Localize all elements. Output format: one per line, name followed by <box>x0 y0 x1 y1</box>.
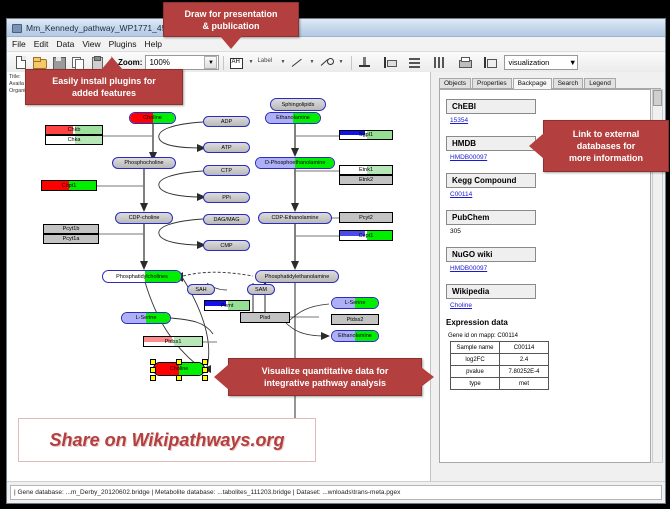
callout-tail-left <box>214 364 229 390</box>
visualization-value: visualization <box>508 58 549 67</box>
node-gene-etnk1[interactable]: Etnk1 <box>339 165 393 175</box>
table-cell: C00114 <box>500 342 549 354</box>
menu-item-help[interactable]: Help <box>145 39 162 49</box>
node-choline-top[interactable]: Choline <box>129 112 176 124</box>
node-label: Chka <box>68 137 81 143</box>
zoom-combobox[interactable]: 100% ▼ <box>145 55 219 70</box>
scrollbar-thumb[interactable] <box>653 90 662 106</box>
callout-share-text: Share on Wikipathways.org <box>50 430 285 451</box>
datanode-icon[interactable] <box>228 54 245 71</box>
node-o-phosphoethanolamine[interactable]: O-Phosphoethanolamine <box>255 157 335 169</box>
node-cmp[interactable]: CMP <box>203 240 250 251</box>
table-cell: pvalue <box>451 366 500 378</box>
node-cdp-ethanolamine[interactable]: CDP-Ethanolamine <box>258 212 332 224</box>
section-header-hmdb: HMDB <box>446 136 536 151</box>
node-label: ADP <box>221 119 232 125</box>
line-icon[interactable] <box>289 54 306 71</box>
node-label: SAM <box>255 287 267 293</box>
node-gene-pisd[interactable]: Pisd <box>240 312 290 323</box>
node-label: Ptdss2 <box>347 317 364 323</box>
node-gene-chkb[interactable]: Chkb <box>45 125 103 135</box>
node-label: Pcyt1a <box>63 236 80 242</box>
node-ppi[interactable]: PPi <box>203 192 250 203</box>
tab-legend[interactable]: Legend <box>584 78 616 88</box>
section-header-pubchem: PubChem <box>446 210 536 225</box>
label-icon[interactable] <box>257 54 277 71</box>
zoom-value: 100% <box>149 58 169 67</box>
callout-tail-up <box>101 57 123 70</box>
callout-visualize-line2: integrative pathway analysis <box>235 377 415 389</box>
node-label: Pcyt2 <box>359 215 373 221</box>
tab-backpage[interactable]: Backpage <box>513 78 552 89</box>
callout-draw-line2: & publication <box>170 20 292 32</box>
node-label: Chkb <box>68 127 81 133</box>
selection-handle[interactable] <box>176 359 182 365</box>
node-adp[interactable]: ADP <box>203 116 250 127</box>
node-label: L-Serine <box>345 300 366 306</box>
stack-icon[interactable] <box>406 54 423 71</box>
section-header-nugo: NuGO wiki <box>446 247 536 262</box>
node-ethanolamine-right[interactable]: Ethanolamine <box>331 330 379 342</box>
statusbar-text: | Gene database: ...m_Derby_20120602.bri… <box>10 485 662 500</box>
node-atp[interactable]: ATP <box>203 142 250 153</box>
table-cell: met <box>500 378 549 390</box>
callout-links-line3: more information <box>550 152 662 164</box>
statusbar: | Gene database: ...m_Derby_20120602.bri… <box>7 481 665 503</box>
node-gene-pemt[interactable]: Pemt <box>204 300 250 311</box>
node-gene-etnk2[interactable]: Etnk2 <box>339 175 393 185</box>
node-label: Sgpl1 <box>359 132 373 138</box>
connector-icon[interactable] <box>318 54 335 71</box>
node-label: Pcyt1b <box>63 226 80 232</box>
callout-plugins-line2: added features <box>32 87 176 99</box>
toolbar-separator <box>223 56 224 70</box>
callout-share: Share on Wikipathways.org <box>18 418 316 462</box>
node-sah[interactable]: SAH <box>187 284 215 295</box>
table-cell: Sample name <box>451 342 500 354</box>
screenshot-root: Mm_Kennedy_pathway_WP1771_45176.gpml Fil… <box>0 0 670 509</box>
selection-handle[interactable] <box>150 359 156 365</box>
chevron-down-icon[interactable]: ▼ <box>247 54 255 71</box>
node-gene-chpt1[interactable]: Chpt1 <box>41 180 97 191</box>
node-gene-ptdss1[interactable]: Ptdss1 <box>143 336 203 347</box>
distribute-icon[interactable] <box>431 54 448 71</box>
node-label: Ptdss1 <box>165 339 182 345</box>
tab-properties[interactable]: Properties <box>472 78 512 88</box>
node-phosphatidylcholines[interactable]: Phosphatidylcholines <box>102 270 182 283</box>
value-pubchem: 305 <box>450 228 650 235</box>
node-label: Pemt <box>221 303 234 309</box>
table-cell: type <box>451 378 500 390</box>
menu-item-file[interactable]: File <box>12 39 26 49</box>
node-label: Pisd <box>260 315 271 321</box>
chevron-down-icon[interactable]: ▼ <box>204 56 217 69</box>
callout-visualize: Visualize quantitative data for integrat… <box>228 358 422 396</box>
callout-plugins-line1: Easily install plugins for <box>32 75 176 87</box>
table-cell: 2.4 <box>500 354 549 366</box>
node-label: CDP-choline <box>129 215 160 221</box>
node-gene-sgpl1[interactable]: Sgpl1 <box>339 130 393 140</box>
menu-item-plugins[interactable]: Plugins <box>109 39 137 49</box>
node-gene-cept1[interactable]: Cept1 <box>339 230 393 241</box>
table-row: Sample name C00114 <box>451 342 549 354</box>
chevron-down-icon[interactable]: ▼ <box>279 54 287 71</box>
menu-item-data[interactable]: Data <box>56 39 74 49</box>
callout-links-line2: databases for <box>550 140 662 152</box>
tab-objects[interactable]: Objects <box>439 78 471 88</box>
node-label: SAH <box>195 287 206 293</box>
table-cell: log2FC <box>451 354 500 366</box>
table-row: pvalue 7.80252E-4 <box>451 366 549 378</box>
node-sam[interactable]: SAM <box>247 284 275 295</box>
link-nugo[interactable]: HMDB00097 <box>450 265 650 272</box>
gene-id-on-mapp: Gene id on mapp: C00114 <box>448 333 650 339</box>
side-panel-tabs: Objects Properties Backpage Search Legen… <box>439 76 661 89</box>
node-label: Ethanolamine <box>338 333 372 339</box>
callout-tail-down <box>220 36 242 49</box>
node-label: PPi <box>222 195 231 201</box>
align-left-icon[interactable] <box>381 54 398 71</box>
node-gene-pcyt1a[interactable]: Pcyt1a <box>43 234 99 244</box>
print-icon[interactable] <box>456 54 473 71</box>
callout-tail-right <box>421 367 434 387</box>
callout-links-line1: Link to external <box>550 128 662 140</box>
selection-handle[interactable] <box>150 375 156 381</box>
callout-draw-line1: Draw for presentation <box>170 8 292 20</box>
node-l-serine-left[interactable]: L-Serine <box>121 312 171 324</box>
callout-visualize-line1: Visualize quantitative data for <box>235 365 415 377</box>
menubar: File Edit Data View Plugins Help <box>7 37 665 52</box>
node-label: Cept1 <box>359 233 374 239</box>
visualization-combobox[interactable]: visualization ▼ <box>504 55 578 70</box>
selection-handle[interactable] <box>150 367 156 373</box>
node-label: ATP <box>221 145 231 151</box>
node-label: L-Serine <box>136 315 157 321</box>
section-header-chebi: ChEBI <box>446 99 536 114</box>
node-label: Ethanolamine <box>276 115 310 121</box>
node-label: CMP <box>220 243 232 249</box>
node-phosphatidylethanolamine[interactable]: Phosphatidylethanolamine <box>255 270 339 283</box>
node-label: CDP-Ethanolamine <box>271 215 318 221</box>
node-label: Phosphocholine <box>124 160 163 166</box>
node-label: Etnk2 <box>359 177 373 183</box>
section-header-wikipedia: Wikipedia <box>446 284 536 299</box>
node-gene-pcyt2[interactable]: Pcyt2 <box>339 212 393 223</box>
menu-item-edit[interactable]: Edit <box>34 39 49 49</box>
link-kegg[interactable]: C00114 <box>450 191 650 198</box>
section-header-kegg: Kegg Compound <box>446 173 536 188</box>
toolbar-separator <box>351 56 352 70</box>
node-label: DAG/MAG <box>214 217 240 223</box>
node-label: Chpt1 <box>62 183 77 189</box>
link-wikipedia[interactable]: Choline <box>450 302 650 309</box>
node-gene-chka[interactable]: Chka <box>45 135 103 145</box>
node-label: Phosphatidylethanolamine <box>265 274 330 280</box>
node-label: Choline <box>170 366 189 372</box>
node-label: O-Phosphoethanolamine <box>265 160 326 166</box>
node-gene-pcyt1b[interactable]: Pcyt1b <box>43 224 99 234</box>
chevron-down-icon[interactable]: ▼ <box>337 54 345 71</box>
node-label: Sphingolipids <box>282 102 315 108</box>
node-sphingolipids[interactable]: Sphingolipids <box>270 98 326 111</box>
node-gene-ptdss2[interactable]: Ptdss2 <box>331 314 379 325</box>
node-ethanolamine-top[interactable]: Ethanolamine <box>265 112 321 124</box>
node-dag-mag[interactable]: DAG/MAG <box>203 214 250 225</box>
table-row: log2FC 2.4 <box>451 354 549 366</box>
node-label: Choline <box>143 115 162 121</box>
chevron-down-icon[interactable]: ▼ <box>308 54 316 71</box>
callout-tail-left <box>529 133 544 159</box>
app-icon <box>11 22 22 33</box>
tab-search[interactable]: Search <box>553 78 584 88</box>
callout-links: Link to external databases for more info… <box>543 120 669 172</box>
window-titlebar: Mm_Kennedy_pathway_WP1771_45176.gpml <box>7 19 665 37</box>
node-l-serine-right[interactable]: L-Serine <box>331 297 379 309</box>
callout-draw: Draw for presentation & publication <box>163 2 299 37</box>
selection-handle[interactable] <box>202 367 208 373</box>
node-label: CTP <box>221 168 232 174</box>
chevron-down-icon[interactable]: ▼ <box>569 58 576 67</box>
selection-handle[interactable] <box>176 375 182 381</box>
selection-handle[interactable] <box>202 375 208 381</box>
align-bottom-icon[interactable] <box>356 54 373 71</box>
node-phosphocholine[interactable]: Phosphocholine <box>112 157 176 169</box>
node-label: Phosphatidylcholines <box>116 274 168 280</box>
table-row: type met <box>451 378 549 390</box>
menu-item-view[interactable]: View <box>82 39 100 49</box>
selection-handle[interactable] <box>202 359 208 365</box>
node-cdp-choline[interactable]: CDP-choline <box>115 212 173 224</box>
callout-plugins: Easily install plugins for added feature… <box>25 69 183 105</box>
node-ctp[interactable]: CTP <box>203 165 250 176</box>
export-icon[interactable] <box>481 54 498 71</box>
node-label: Etnk1 <box>359 167 373 173</box>
table-cell: 7.80252E-4 <box>500 366 549 378</box>
expression-data-table: Sample name C00114 log2FC 2.4 pvalue 7.8… <box>450 341 549 390</box>
expression-data-title: Expression data <box>446 318 650 327</box>
